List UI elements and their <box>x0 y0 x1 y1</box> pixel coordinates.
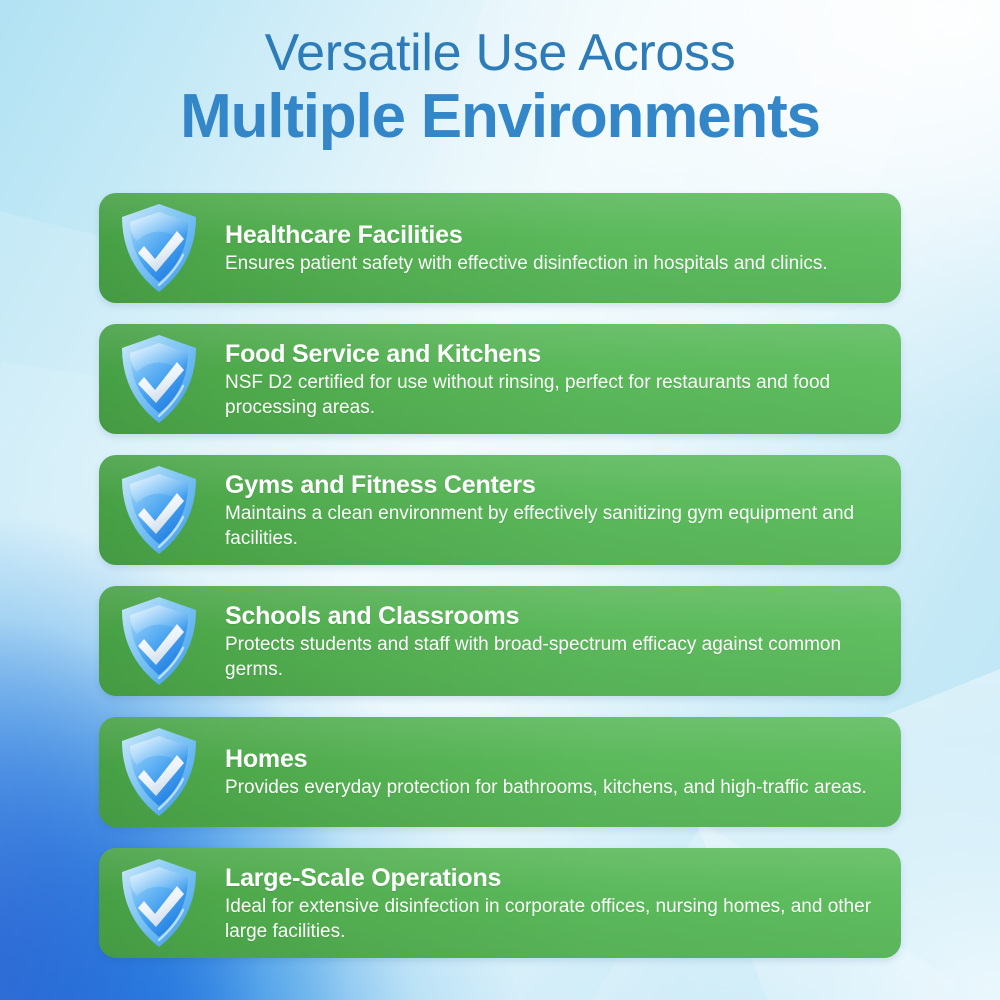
card-title: Large-Scale Operations <box>225 863 881 893</box>
card-description: Ideal for extensive disinfection in corp… <box>225 894 881 944</box>
shield-check-icon <box>107 193 211 303</box>
card-text-block: Schools and Classrooms Protects students… <box>225 601 901 682</box>
card-title: Healthcare Facilities <box>225 220 828 250</box>
infographic-poster: Versatile Use Across Multiple Environmen… <box>0 0 1000 1000</box>
shield-check-icon <box>107 717 211 827</box>
shield-check-icon <box>107 586 211 696</box>
environment-card[interactable]: Healthcare Facilities Ensures patient sa… <box>99 193 901 303</box>
environment-card[interactable]: Food Service and Kitchens NSF D2 certifi… <box>99 324 901 434</box>
page-title: Versatile Use Across Multiple Environmen… <box>0 22 1000 150</box>
card-text-block: Homes Provides everyday protection for b… <box>225 744 887 800</box>
card-title: Food Service and Kitchens <box>225 339 881 369</box>
title-line-1: Versatile Use Across <box>0 22 1000 84</box>
card-title: Homes <box>225 744 867 774</box>
shield-check-icon <box>107 848 211 958</box>
card-text-block: Food Service and Kitchens NSF D2 certifi… <box>225 339 901 420</box>
shield-check-icon <box>107 455 211 565</box>
card-description: Maintains a clean environment by effecti… <box>225 501 881 551</box>
card-description: Ensures patient safety with effective di… <box>225 251 828 276</box>
card-description: NSF D2 certified for use without rinsing… <box>225 370 881 420</box>
environment-card-list: Healthcare Facilities Ensures patient sa… <box>99 193 901 979</box>
environment-card[interactable]: Schools and Classrooms Protects students… <box>99 586 901 696</box>
card-text-block: Healthcare Facilities Ensures patient sa… <box>225 220 848 276</box>
title-line-2: Multiple Environments <box>0 84 1000 150</box>
environment-card[interactable]: Homes Provides everyday protection for b… <box>99 717 901 827</box>
card-description: Protects students and staff with broad-s… <box>225 632 881 682</box>
card-title: Gyms and Fitness Centers <box>225 470 881 500</box>
card-text-block: Large-Scale Operations Ideal for extensi… <box>225 863 901 944</box>
environment-card[interactable]: Gyms and Fitness Centers Maintains a cle… <box>99 455 901 565</box>
card-text-block: Gyms and Fitness Centers Maintains a cle… <box>225 470 901 551</box>
shield-check-icon <box>107 324 211 434</box>
environment-card[interactable]: Large-Scale Operations Ideal for extensi… <box>99 848 901 958</box>
card-title: Schools and Classrooms <box>225 601 881 631</box>
card-description: Provides everyday protection for bathroo… <box>225 775 867 800</box>
